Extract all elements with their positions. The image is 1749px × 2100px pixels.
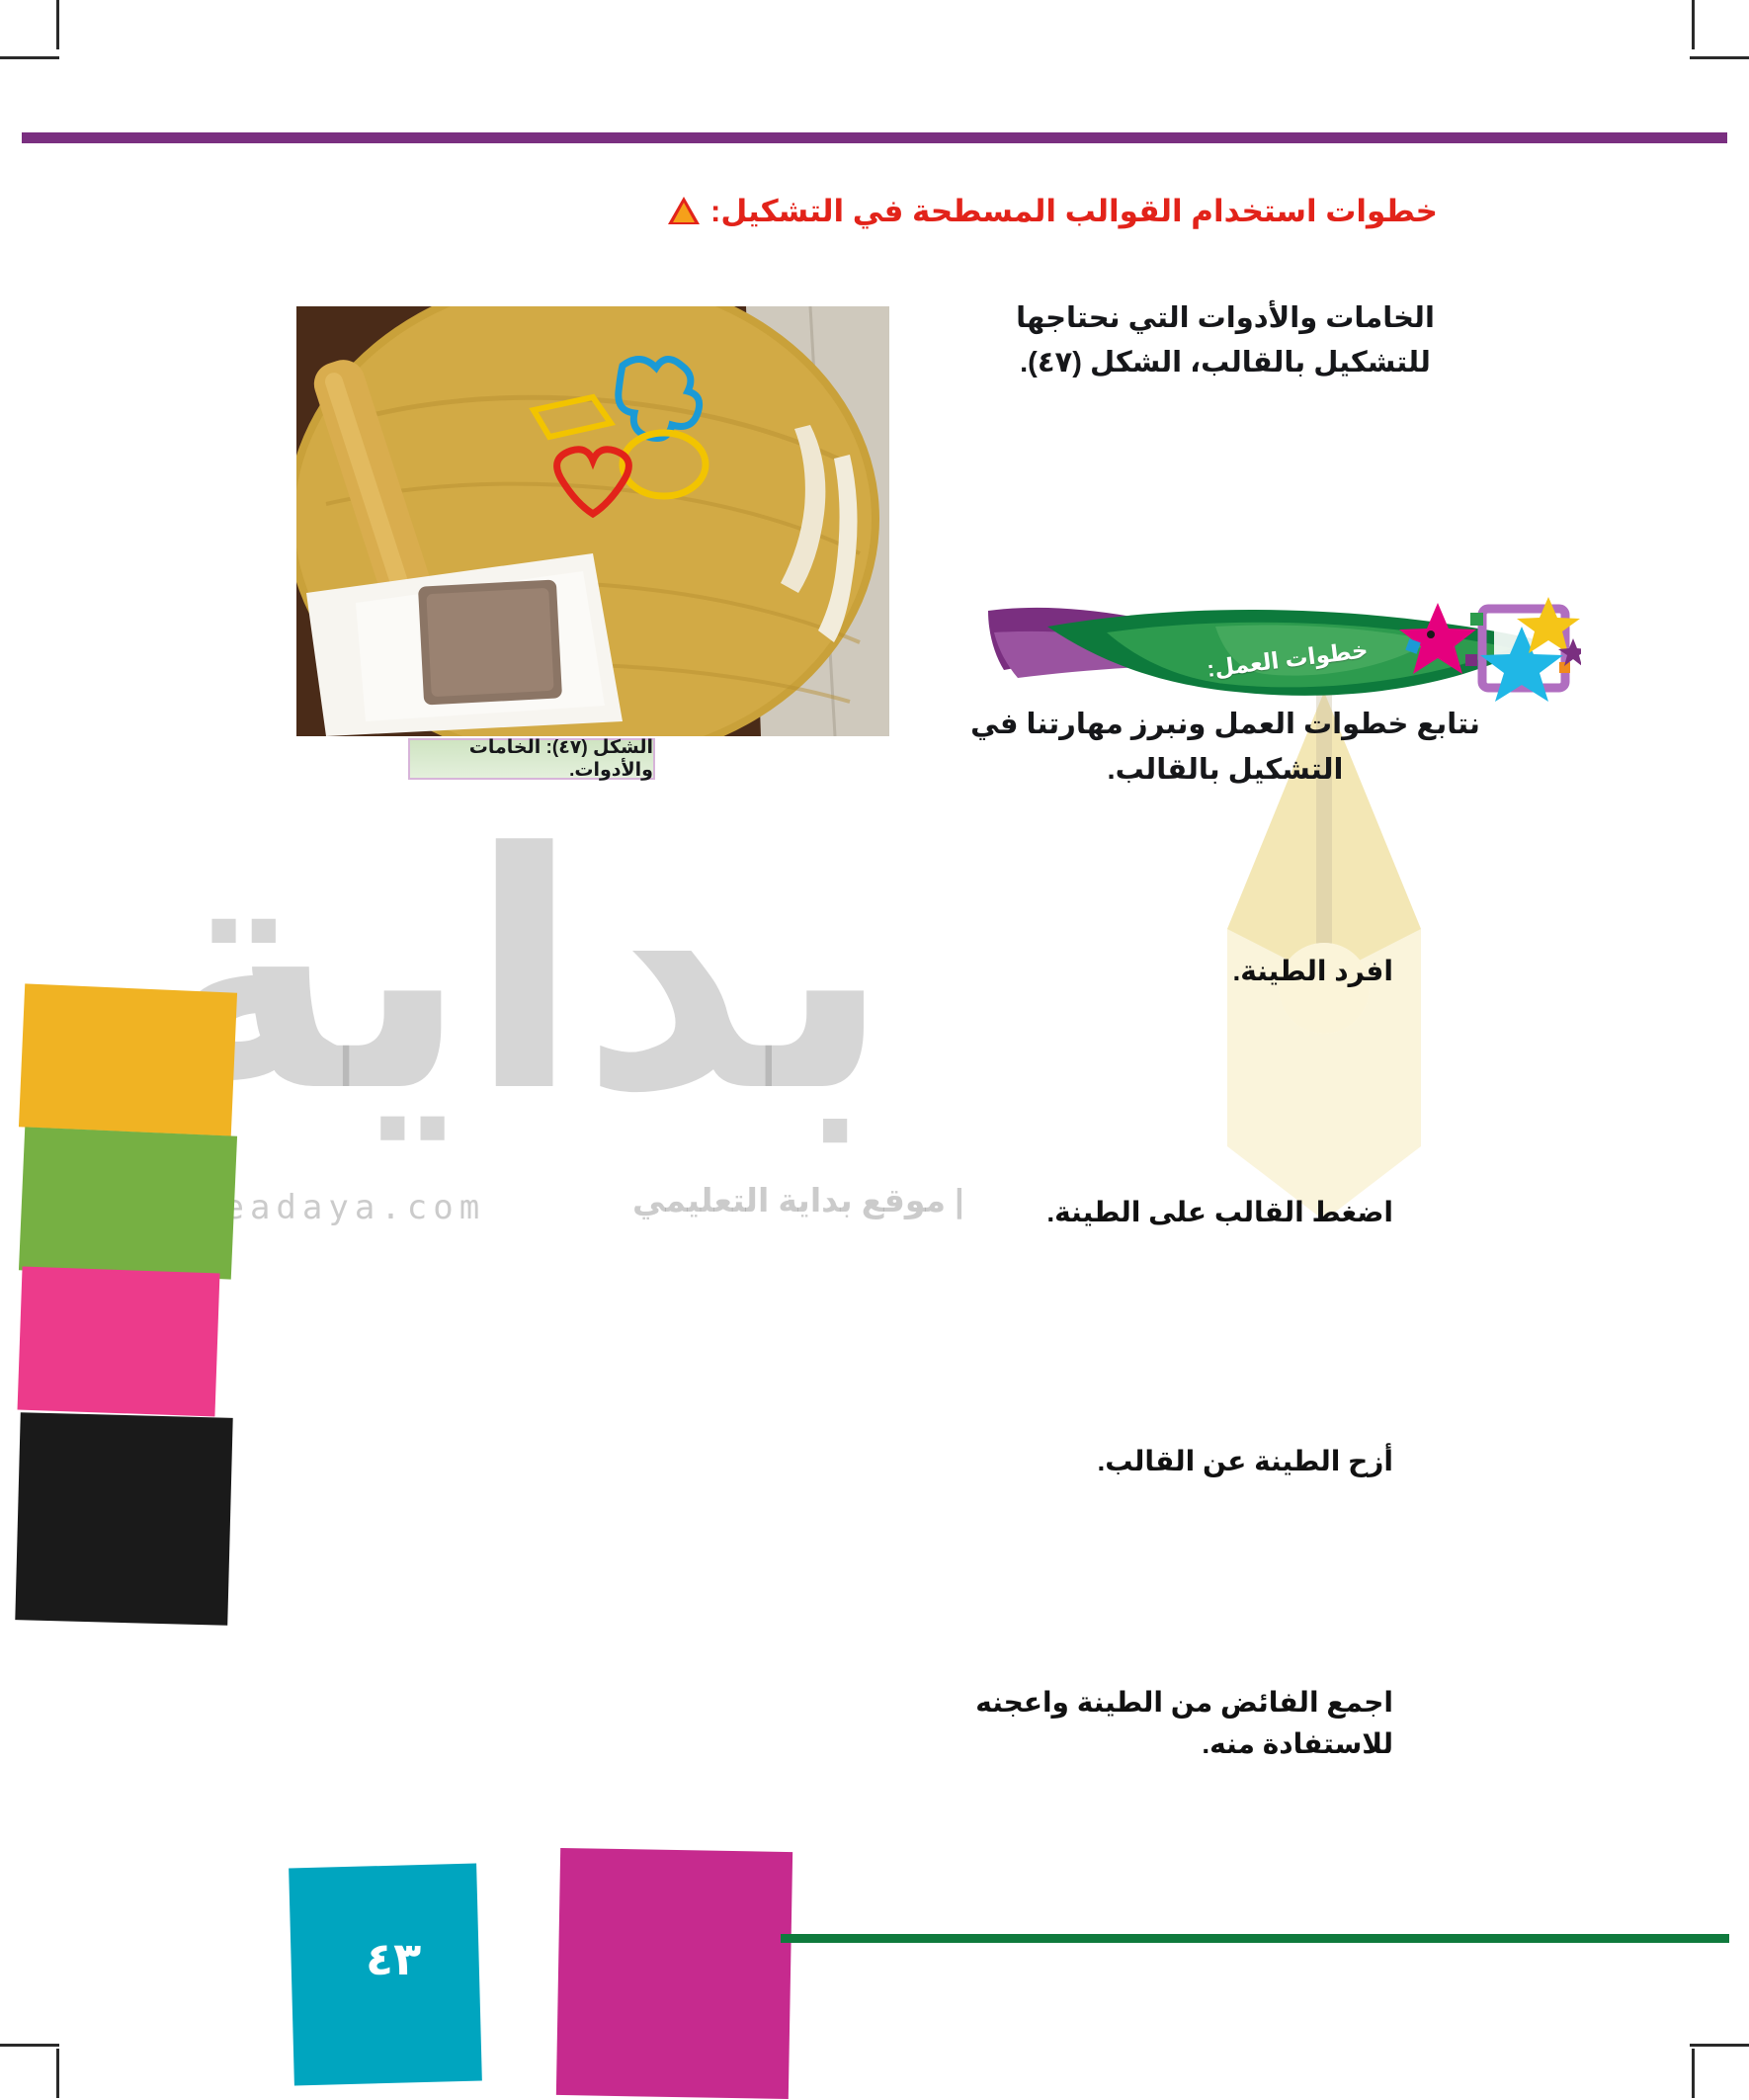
figure-47-caption: الشكل (٤٧): الخامات والأدوات. (408, 738, 655, 780)
watermark-word: بداية (148, 810, 891, 1136)
crop-mark-bottom-right (1692, 2049, 1695, 2098)
section-heading-text: خطوات استخدام القوالب المسطحة في التشكيل… (710, 193, 1438, 231)
watermark-arabic: | موقع بداية التعليمي (632, 1181, 963, 1219)
crop-mark-bottom-right-h (1690, 2044, 1749, 2047)
watermark: بداية beadaya.com | موقع بداية التعليمي (0, 682, 1749, 1393)
crop-mark-top-left (56, 0, 59, 49)
page-number: ٤٣ (366, 1932, 421, 1985)
warning-triangle-icon (667, 196, 701, 225)
work-steps-intro: نتابع خطوات العمل ونبرز مهارتنا في التشك… (968, 702, 1482, 794)
crop-mark-top-right-h (1690, 56, 1749, 59)
deco-tile-magenta (18, 1267, 220, 1417)
crop-mark-top-left-h (0, 56, 59, 59)
crop-mark-top-right (1692, 0, 1695, 49)
work-steps-banner: خطوات العمل: (988, 593, 1581, 702)
figure-47-photo (296, 306, 889, 736)
section-heading: خطوات استخدام القوالب المسطحة في التشكيل… (667, 193, 1655, 231)
step-3-text: أزح الطينة عن القالب. (958, 1441, 1393, 1482)
deco-tile-yellow (19, 983, 237, 1135)
step-1-text: افرد الطينة. (958, 951, 1393, 992)
crop-mark-bottom-left-h (0, 2044, 59, 2047)
deco-tile-black (15, 1412, 232, 1626)
crop-mark-bottom-left (56, 2049, 59, 2098)
step-2-text: اضغط القالب على الطينة. (958, 1192, 1393, 1233)
intro-paragraph: الخامات والأدوات التي نحتاجها للتشكيل با… (968, 296, 1482, 385)
step-4-text: اجمع الفائض من الطينة واعجنه للاستفادة م… (939, 1682, 1393, 1765)
footer-rule (781, 1934, 1729, 1943)
watermark-url: beadaya.com (198, 1188, 485, 1227)
footer-tile-magenta (556, 1848, 792, 2099)
header-rule (22, 132, 1727, 143)
deco-tile-green (19, 1127, 237, 1279)
textbook-page: بداية beadaya.com | موقع بداية التعليمي … (0, 0, 1749, 2100)
